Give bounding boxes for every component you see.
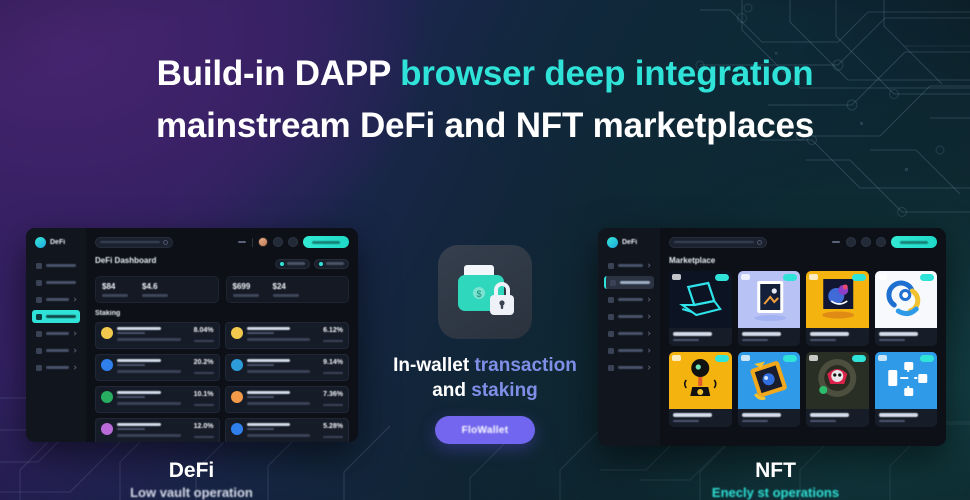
stake-token-name [247, 327, 291, 330]
defi-dashboard-header: DeFi Dashboard [95, 256, 349, 271]
sidebar-item-my-assets[interactable] [604, 344, 654, 357]
arrows-icon [608, 365, 614, 371]
nft-card[interactable] [875, 271, 938, 346]
nft-caption-title: NFT [668, 458, 883, 483]
stake-apy-label [194, 340, 214, 343]
nft-card[interactable] [669, 271, 732, 346]
defi-nav-list[interactable] [32, 259, 80, 374]
defi-stat-1: $4.6 [142, 282, 168, 297]
defi-stat-0-value: $84 [102, 282, 128, 292]
svg-text:$: $ [476, 289, 481, 299]
chevron-down-icon [72, 331, 76, 335]
token-icon [231, 391, 243, 403]
coin-icon [280, 262, 284, 266]
stake-apy-value: 6.12% [323, 327, 343, 335]
chevron-down-icon [646, 331, 650, 335]
stake-apy-label [194, 404, 214, 407]
nft-card-title [810, 413, 849, 417]
stake-apy-label [194, 436, 214, 439]
token-icon [101, 359, 113, 371]
swap-icon [36, 297, 42, 303]
stake-token-sub [247, 396, 275, 399]
nft-status-badge [852, 355, 866, 362]
search-icon [757, 240, 762, 245]
nft-card-title [810, 332, 849, 336]
defi-stat-3: $24 [273, 282, 299, 297]
stake-card[interactable]: 5.28% [225, 418, 350, 443]
arrows-icon [36, 365, 42, 371]
settings-icon[interactable] [861, 237, 871, 247]
stake-apy-value: 8.04% [194, 327, 214, 335]
stake-apy-value: 7.36% [323, 391, 343, 399]
defi-brand: DeFi [32, 237, 80, 248]
stake-token-meta [247, 370, 311, 373]
chevron-down-icon [646, 365, 650, 369]
logo-icon [35, 237, 46, 248]
defi-stat-3-value: $24 [273, 282, 299, 292]
stake-token-name [247, 359, 291, 362]
chart-icon [608, 331, 614, 337]
store-icon [36, 331, 42, 337]
search-icon [163, 240, 168, 245]
center-text-b: transaction [474, 355, 576, 376]
stake-token-sub [247, 364, 275, 367]
settings-icon[interactable] [273, 237, 283, 247]
defi-stat-0: $84 [102, 282, 128, 297]
stake-apy-value: 20.2% [194, 359, 214, 367]
sidebar-item-staking[interactable] [32, 310, 80, 323]
nft-card-price [810, 420, 836, 423]
headline-line-2: mainstream DeFi and NFT marketplaces [0, 104, 970, 148]
token-icon [101, 391, 113, 403]
nft-status-badge [783, 274, 797, 281]
sidebar-item-discover[interactable] [604, 259, 654, 272]
nft-type-tag [809, 355, 818, 361]
nft-card[interactable] [738, 271, 801, 346]
nft-type-tag [672, 355, 681, 361]
wallet-icon [608, 348, 614, 354]
nft-card-title [673, 413, 712, 417]
wallet-icon [36, 348, 42, 354]
defi-stat-3-label [273, 294, 299, 297]
flowallet-cta-button[interactable]: FloWallet [435, 416, 535, 444]
toolbar-divider [252, 238, 253, 247]
avatar[interactable] [258, 237, 268, 247]
nft-status-badge [715, 355, 729, 362]
stake-token-sub [117, 364, 145, 367]
sidebar-item-label [618, 264, 643, 268]
nft-sidebar[interactable]: DeFi [598, 228, 660, 446]
defi-stat-group-left: $84 $4.6 [95, 276, 219, 303]
stake-token-sub [117, 396, 145, 399]
stake-token-name [117, 327, 161, 330]
nft-type-tag [672, 274, 681, 280]
sidebar-item-discover[interactable] [32, 276, 80, 289]
nft-artwork [806, 352, 869, 409]
stake-card[interactable]: 12.0% [95, 418, 220, 443]
pulse-icon [608, 297, 614, 303]
defi-caption-title: DeFi [84, 458, 299, 483]
sidebar-item-label [46, 281, 76, 285]
stake-token-meta [117, 338, 181, 341]
sidebar-item-transfer[interactable] [604, 361, 654, 374]
stake-apy-label [323, 404, 343, 407]
chevron-down-icon [72, 297, 76, 301]
stake-token-meta [247, 338, 311, 341]
nft-artwork [875, 271, 938, 328]
nft-card-price [810, 339, 836, 342]
nft-type-tag [741, 355, 750, 361]
stake-card[interactable]: 9.14% [225, 354, 350, 381]
nft-status-badge [920, 274, 934, 281]
defi-caption-subtitle: Low vault operation [84, 485, 299, 500]
defi-stat-group-right: $699 $24 [226, 276, 350, 303]
center-text-c: and [432, 380, 471, 401]
chevron-down-icon [72, 365, 76, 369]
nft-card[interactable] [806, 352, 869, 427]
stake-card[interactable]: 10.1% [95, 386, 220, 413]
nft-nav-list[interactable] [604, 259, 654, 374]
nft-card-title [742, 413, 781, 417]
token-icon [231, 423, 243, 435]
chevron-down-icon [646, 348, 650, 352]
defi-caption: DeFi Low vault operation [84, 458, 299, 500]
headline-part-a: Build-in DAPP [157, 54, 401, 93]
sidebar-item-label [46, 349, 69, 353]
nft-artwork [738, 271, 801, 328]
nft-card-title [879, 413, 918, 417]
nft-card-price [879, 339, 905, 342]
defi-section-title: DeFi Dashboard [95, 256, 156, 265]
bell-icon[interactable] [288, 237, 298, 247]
stake-token-meta [117, 402, 181, 405]
sidebar-item-label [618, 315, 643, 319]
defi-stat-0-label [102, 294, 128, 297]
stake-apy-label [323, 372, 343, 375]
nft-card-price [742, 339, 768, 342]
nft-search-placeholder [674, 241, 754, 244]
coins-icon [36, 314, 42, 320]
nft-type-tag [878, 274, 887, 280]
center-text-line-2: and staking [370, 378, 600, 403]
stake-token-sub [117, 428, 145, 431]
flowallet-cta-label: FloWallet [462, 425, 509, 436]
stake-apy-label [323, 436, 343, 439]
nft-caption: NFT Enecly st operations [668, 458, 883, 500]
nft-type-tag [809, 274, 818, 280]
sidebar-item-label [46, 332, 69, 336]
chevron-down-icon [646, 263, 650, 267]
nft-artwork [875, 352, 938, 409]
defi-chip-rewards[interactable] [275, 259, 310, 269]
nft-connect-label [900, 241, 928, 244]
stake-apy-label [323, 340, 343, 343]
nft-card[interactable] [669, 352, 732, 427]
stake-token-sub [247, 332, 275, 335]
nft-status-badge [715, 274, 729, 281]
nft-type-tag [741, 274, 750, 280]
defi-stat-1-label [142, 294, 168, 297]
stake-token-meta [247, 402, 311, 405]
defi-search-placeholder [100, 241, 160, 244]
defi-stat-2: $699 [233, 282, 259, 297]
sidebar-item-marketplace[interactable] [604, 276, 654, 289]
page-title: Build-in DAPP browser deep integration m… [0, 52, 970, 148]
logo-icon [607, 237, 618, 248]
nft-card-title [742, 332, 781, 336]
grid-icon [608, 263, 614, 269]
stake-card[interactable]: 7.36% [225, 386, 350, 413]
stake-apy-value: 9.14% [323, 359, 343, 367]
stake-token-meta [117, 370, 181, 373]
chevron-down-icon [646, 297, 650, 301]
nft-status-badge [920, 355, 934, 362]
nft-card-price [742, 420, 768, 423]
nft-card[interactable] [806, 271, 869, 346]
grid-icon [36, 263, 42, 269]
headline-line-1: Build-in DAPP browser deep integration [0, 52, 970, 96]
sidebar-item-label [620, 281, 650, 285]
compass-icon [36, 280, 42, 286]
sidebar-item-label [618, 349, 643, 353]
nft-search-input[interactable] [669, 237, 767, 248]
sidebar-item-marketplace[interactable] [32, 327, 80, 340]
stake-apy-label [194, 372, 214, 375]
nft-main-content: Marketplace [660, 228, 946, 446]
nft-toolbar[interactable] [669, 236, 937, 248]
bell-icon[interactable] [876, 237, 886, 247]
nft-type-tag [878, 355, 887, 361]
sidebar-item-leaderboard[interactable] [604, 327, 654, 340]
chevron-down-icon [646, 314, 650, 318]
center-feature: $ In-wallet transaction and staking FloW… [370, 245, 600, 444]
defi-sidebar[interactable]: DeFi [26, 228, 86, 442]
sidebar-item-transfer[interactable] [32, 361, 80, 374]
sidebar-item-collections[interactable] [604, 310, 654, 323]
defi-main-content: DeFi Dashboard $84 $4.6 $699 $24 Staking… [86, 228, 358, 442]
center-text-line-1: In-wallet transaction [370, 353, 600, 378]
stake-token-sub [247, 428, 275, 431]
defi-stat-strip: $84 $4.6 $699 $24 [95, 276, 349, 303]
nft-artwork [669, 352, 732, 409]
sidebar-item-label [618, 298, 643, 302]
sidebar-item-dashboard[interactable] [32, 259, 80, 272]
nft-artwork [669, 271, 732, 328]
stake-token-name [117, 423, 161, 426]
stake-token-name [117, 391, 161, 394]
defi-stat-1-value: $4.6 [142, 282, 168, 292]
sidebar-item-label [46, 264, 76, 268]
stake-apy-value: 10.1% [194, 391, 214, 399]
defi-stat-2-label [233, 294, 259, 297]
nft-artwork [738, 352, 801, 409]
defi-staking-list[interactable]: 8.04%6.12%20.2%9.14%10.1%7.36%12.0%5.28% [95, 322, 349, 443]
nft-status-badge [852, 274, 866, 281]
nft-section-title: Marketplace [669, 256, 937, 265]
defi-brand-label: DeFi [50, 239, 65, 246]
defi-connect-button[interactable] [303, 236, 349, 248]
menu-icon[interactable] [237, 237, 247, 247]
nft-caption-subtitle: Enecly st operations [668, 485, 883, 500]
nft-card-title [673, 332, 712, 336]
nft-artwork [806, 271, 869, 328]
nft-brand: DeFi [604, 237, 654, 248]
sidebar-item-label [46, 315, 76, 319]
stake-card[interactable]: 6.12% [225, 322, 350, 349]
token-icon [101, 327, 113, 339]
nft-card-price [879, 420, 905, 423]
folder-icon [608, 314, 614, 320]
wallet-lock-glyph: $ [438, 245, 532, 339]
sidebar-item-my-assets[interactable] [32, 344, 80, 357]
stake-apy-value: 5.28% [323, 423, 343, 431]
nft-brand-label: DeFi [622, 239, 637, 246]
defi-connect-label [312, 241, 340, 244]
center-text-d: staking [471, 380, 538, 401]
nft-card-grid[interactable] [669, 271, 937, 427]
wallet-lock-icon: $ [438, 245, 532, 339]
nft-connect-button[interactable] [891, 236, 937, 248]
sidebar-item-label [618, 366, 643, 370]
defi-toolbar[interactable] [95, 236, 349, 248]
center-text-a: In-wallet [393, 355, 474, 376]
chevron-down-icon [72, 348, 76, 352]
grid-view-icon[interactable] [846, 237, 856, 247]
defi-chip-history[interactable] [314, 259, 349, 269]
sidebar-item-label [618, 332, 643, 336]
token-icon [231, 359, 243, 371]
token-icon [231, 327, 243, 339]
stake-token-meta [117, 434, 181, 437]
stake-token-name [117, 359, 161, 362]
nft-card-price [673, 420, 699, 423]
sidebar-item-label [46, 298, 69, 302]
sidebar-item-activity[interactable] [604, 293, 654, 306]
store-icon [610, 280, 616, 286]
nft-card-price [673, 339, 699, 342]
nft-card[interactable] [875, 352, 938, 427]
headline-part-b: browser deep integration [400, 54, 813, 93]
defi-app-window[interactable]: DeFi DeFi Dashboard $84 $4.6 [26, 228, 358, 442]
stake-token-name [247, 391, 291, 394]
stake-token-meta [247, 434, 311, 437]
stake-card[interactable]: 20.2% [95, 354, 220, 381]
nft-card[interactable] [738, 352, 801, 427]
nft-status-badge [783, 355, 797, 362]
nft-app-window[interactable]: DeFi Marketplace [598, 228, 946, 446]
stake-token-sub [117, 332, 145, 335]
clock-icon [319, 262, 323, 266]
sidebar-item-trade[interactable] [32, 293, 80, 306]
defi-staking-title: Staking [95, 310, 349, 317]
nft-card-title [879, 332, 918, 336]
defi-search-input[interactable] [95, 237, 173, 248]
stake-token-name [247, 423, 291, 426]
defi-stat-2-value: $699 [233, 282, 259, 292]
sidebar-item-label [46, 366, 69, 370]
menu-icon[interactable] [831, 237, 841, 247]
stake-card[interactable]: 8.04% [95, 322, 220, 349]
token-icon [101, 423, 113, 435]
stake-apy-value: 12.0% [194, 423, 214, 431]
